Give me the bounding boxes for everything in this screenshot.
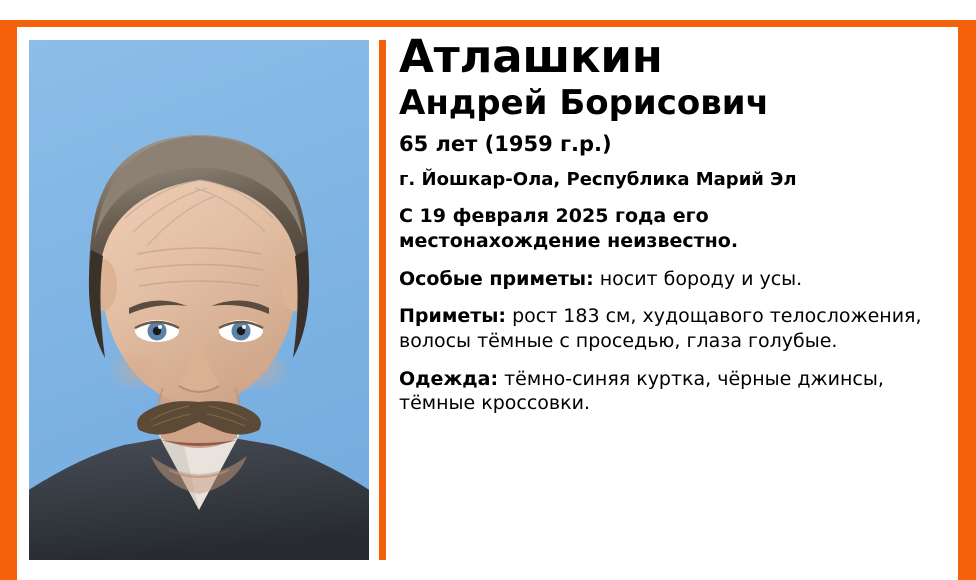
person-age: 65 лет (1959 г.р.) [399,132,959,157]
missing-person-poster: Атлашкин Андрей Борисович 65 лет (1959 г… [0,20,976,580]
detail-value: носит бороду и усы. [594,268,803,290]
photo-column [29,40,369,560]
detail-label: Особые приметы: [399,268,594,290]
info-column: Атлашкин Андрей Борисович 65 лет (1959 г… [399,33,959,416]
vertical-divider [379,40,386,560]
person-city: г. Йошкар-Ола, Республика Марий Эл [399,169,959,192]
portrait-illustration [29,40,369,560]
person-given-patronymic: Андрей Борисович [399,84,959,122]
detail-clothing: Одежда: тёмно-синяя куртка, чёрные джинс… [399,367,959,416]
detail-label: Приметы: [399,305,506,327]
detail-special-marks: Особые приметы: носит бороду и усы. [399,267,959,292]
detail-appearance: Приметы: рост 183 см, худощавого телосло… [399,304,959,353]
portrait-photo [29,40,369,560]
detail-label: Одежда: [399,368,498,390]
person-surname: Атлашкин [399,33,959,82]
missing-since-statement: С 19 февраля 2025 года его местонахожден… [399,204,869,253]
poster-inner: Атлашкин Андрей Борисович 65 лет (1959 г… [17,27,958,580]
